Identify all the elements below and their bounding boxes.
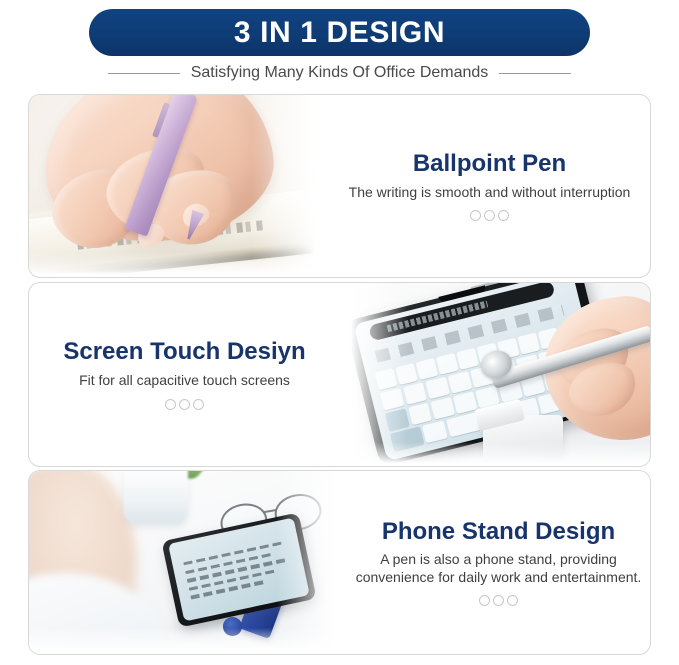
decorative-dots	[470, 210, 509, 221]
feature-image-phone-stand	[29, 471, 347, 654]
header-banner: 3 IN 1 DESIGN	[89, 9, 590, 56]
circle-dot-icon	[498, 210, 509, 221]
photo-scene-stylus	[340, 283, 650, 466]
circle-dot-icon	[165, 399, 176, 410]
divider-line-right	[499, 73, 571, 74]
feature-card-inner: Ballpoint Pen The writing is smooth and …	[29, 95, 650, 277]
plant-pot	[124, 471, 188, 524]
circle-dot-icon	[507, 595, 518, 606]
photo-right-fade	[251, 95, 329, 277]
keyboard-key	[453, 392, 478, 414]
keyboard-key	[436, 353, 458, 375]
photo-right-fade	[277, 471, 347, 654]
keyboard-key	[425, 377, 450, 399]
feature-title: Screen Touch Desiyn	[63, 339, 305, 366]
keyboard-key	[407, 403, 432, 425]
feature-card-inner: Screen Touch Desiyn Fit for all capaciti…	[29, 283, 650, 466]
keyboard-key	[430, 397, 455, 419]
feature-card-phone-stand: Phone Stand Design A pen is also a phone…	[28, 470, 651, 655]
feature-text-column: Ballpoint Pen The writing is smooth and …	[329, 95, 650, 277]
feature-card-ballpoint-pen: Ballpoint Pen The writing is smooth and …	[28, 94, 651, 278]
circle-dot-icon	[493, 595, 504, 606]
feature-description: Fit for all capacitive touch screens	[79, 372, 290, 390]
circle-dot-icon	[484, 210, 495, 221]
keyboard-key-comma	[422, 421, 448, 444]
circle-dot-icon	[193, 399, 204, 410]
feature-description: A pen is also a phone stand, providing c…	[355, 551, 642, 586]
decorative-dots	[479, 595, 518, 606]
infographic-page: 3 IN 1 DESIGN Satisfying Many Kinds Of O…	[0, 0, 679, 665]
feature-text-column: Screen Touch Desiyn Fit for all capaciti…	[29, 283, 340, 466]
keyboard-key	[415, 359, 437, 381]
page-title: 3 IN 1 DESIGN	[234, 18, 445, 48]
keyboard-key	[456, 348, 478, 370]
feature-text-column: Phone Stand Design A pen is also a phone…	[347, 471, 650, 654]
circle-dot-icon	[179, 399, 190, 410]
header-subtitle: Satisfying Many Kinds Of Office Demands	[191, 65, 489, 81]
keyboard-key	[517, 333, 539, 355]
feature-card-screen-touch: Screen Touch Desiyn Fit for all capaciti…	[28, 282, 651, 467]
keyboard-key	[447, 372, 472, 394]
feature-image-screen-touch	[340, 283, 650, 466]
photo-left-fade	[340, 283, 408, 466]
circle-dot-icon	[479, 595, 490, 606]
page-header: 3 IN 1 DESIGN Satisfying Many Kinds Of O…	[0, 0, 679, 92]
photo-scene-writing	[29, 95, 329, 277]
decorative-dots	[165, 399, 204, 410]
feature-title: Ballpoint Pen	[413, 151, 566, 178]
photo-scene-desk	[29, 471, 347, 654]
divider-line-left	[108, 73, 180, 74]
feature-description: The writing is smooth and without interr…	[349, 184, 631, 202]
circle-dot-icon	[470, 210, 481, 221]
feature-card-inner: Phone Stand Design A pen is also a phone…	[29, 471, 650, 654]
feature-image-ballpoint-pen	[29, 95, 329, 277]
header-subtitle-row: Satisfying Many Kinds Of Office Demands	[0, 60, 679, 86]
feature-title: Phone Stand Design	[382, 519, 615, 546]
screen-text-line	[190, 580, 266, 599]
